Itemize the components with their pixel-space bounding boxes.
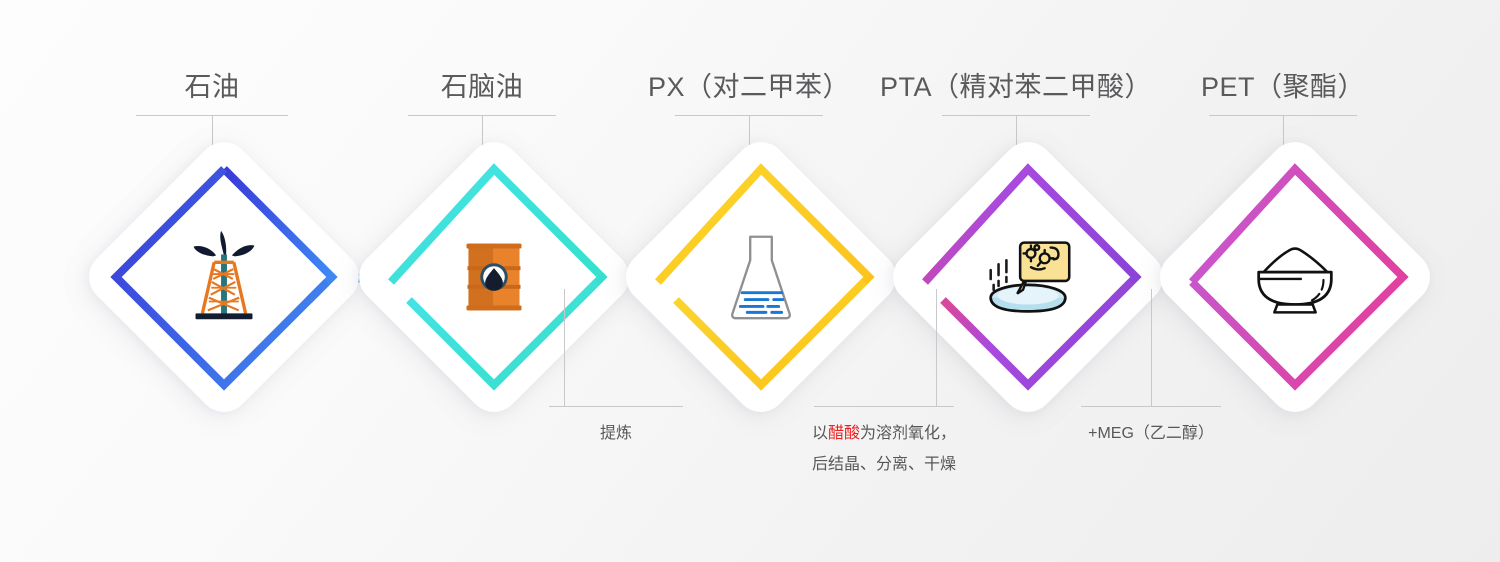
petri-dish-icon xyxy=(974,223,1082,331)
stage-label-pet: PET（聚酯） xyxy=(1201,72,1365,116)
stage-node-naphtha[interactable] xyxy=(391,174,597,380)
erlenmeyer-flask-icon xyxy=(707,223,815,331)
caption-rule xyxy=(1081,406,1221,407)
stage-label-text: 石脑油 xyxy=(441,72,524,104)
stage-label-rule xyxy=(675,115,823,116)
stage-label-text: PTA（精对苯二甲酸） xyxy=(880,72,1152,104)
stage-label-text: 石油 xyxy=(185,72,240,104)
stage-label-rule xyxy=(942,115,1090,116)
stage-label-rule xyxy=(408,115,556,116)
stage-label-px: PX（对二甲苯） xyxy=(648,72,850,116)
caption-rule xyxy=(549,406,683,407)
caption-text: 提炼 xyxy=(600,419,632,450)
oil-barrel-icon xyxy=(440,223,548,331)
stage-node-pet[interactable] xyxy=(1192,174,1398,380)
caption-meg: +MEG（乙二醇） xyxy=(1081,406,1221,450)
stage-label-naphtha: 石脑油 xyxy=(408,72,556,116)
stage-label-rule xyxy=(136,115,288,116)
caption-refining: 提炼 xyxy=(549,406,683,450)
caption-line-1: 以醋酸为溶剂氧化， xyxy=(812,419,956,450)
oil-derrick-icon xyxy=(170,223,278,331)
caption-text: 以醋酸为溶剂氧化， 后结晶、分离、干燥 xyxy=(812,419,956,480)
flow-diagram-canvas: 石油 石脑油 PX（对二甲苯） PTA（精对苯二甲酸） PET（聚酯） xyxy=(0,0,1500,562)
caption-highlight: 醋酸 xyxy=(828,425,860,442)
stage-node-petroleum[interactable] xyxy=(121,174,327,380)
stage-node-px[interactable] xyxy=(658,174,864,380)
stage-node-pta[interactable] xyxy=(925,174,1131,380)
rice-bowl-icon xyxy=(1241,223,1349,331)
caption-tick xyxy=(564,289,565,407)
stage-label-text: PET（聚酯） xyxy=(1201,72,1365,104)
caption-line-2: 后结晶、分离、干燥 xyxy=(812,450,956,481)
stage-label-rule xyxy=(1209,115,1357,116)
stage-label-petroleum: 石油 xyxy=(136,72,288,116)
caption-tick xyxy=(1151,289,1152,407)
caption-tick xyxy=(936,289,937,407)
caption-rule xyxy=(814,406,954,407)
stage-label-text: PX（对二甲苯） xyxy=(648,72,850,104)
stage-label-pta: PTA（精对苯二甲酸） xyxy=(880,72,1152,116)
caption-oxidation: 以醋酸为溶剂氧化， 后结晶、分离、干燥 xyxy=(812,406,956,480)
caption-text: +MEG（乙二醇） xyxy=(1088,419,1214,450)
